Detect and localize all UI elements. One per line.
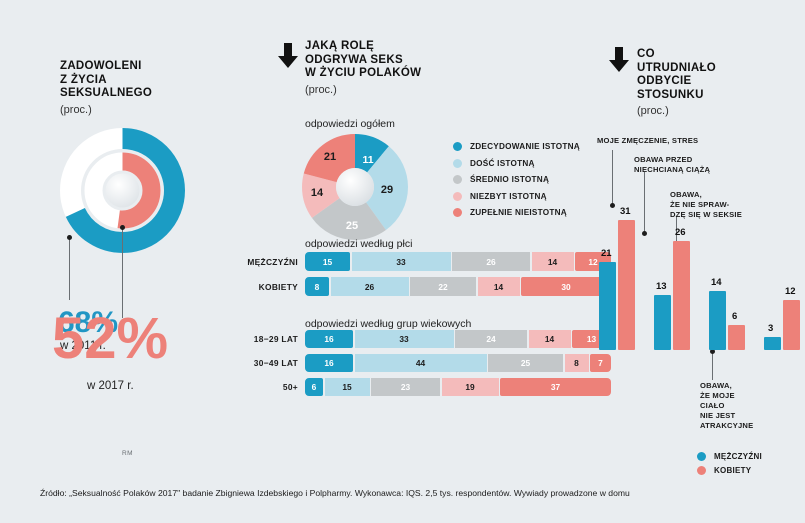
bar-value: 13 (656, 281, 667, 292)
bar-mezczyzni-21 (599, 262, 616, 350)
middle-title-line-3: W ŻYCIU POLAKÓW (305, 67, 485, 81)
annotation-line: CIAŁO (700, 401, 800, 411)
legend-label: DOŚĆ ISTOTNĄ (470, 159, 535, 168)
left-section-title: ZADOWOLENI Z ŻYCIA SEKSUALNEGO (proc.) (60, 60, 230, 117)
slice-label-14: 14 (311, 187, 324, 199)
left-title-unit: (proc.) (60, 104, 230, 118)
bar-value: 21 (601, 248, 612, 259)
row-label-18-29: 18−29 LAT (232, 334, 305, 344)
bar-kobiety-31 (618, 220, 635, 350)
row-label-kobiety: KOBIETY (232, 282, 305, 292)
down-arrow-icon (277, 43, 299, 69)
gender-legend: MĘŻCZYŹNI KOBIETY (697, 452, 762, 475)
segment-srednio: 24 (455, 330, 527, 348)
subtitle-age: odpowiedzi według grup wiekowych (305, 318, 471, 330)
row-label-mezczyzni: MĘŻCZYŹNI (232, 257, 305, 267)
annotation-line: OBAWA, (670, 190, 780, 200)
annotation-zmeczenie: MOJE ZMĘCZENIE, STRES (597, 136, 737, 146)
leader-line-2011 (69, 238, 70, 300)
stacked-track: 16 33 24 14 13 (305, 330, 611, 348)
bar-kobiety-12 (783, 300, 800, 350)
segment-niezbyt: 14 (529, 330, 571, 348)
segment-dosc: 33 (352, 252, 451, 271)
legend-label: NIEZBYT ISTOTNĄ (470, 192, 547, 201)
legend-dot-icon (453, 192, 462, 201)
table-row: MĘŻCZYŹNI 15 33 26 14 12 (232, 252, 611, 271)
left-title-line-3: SEKSUALNEGO (60, 87, 230, 101)
segment-dosc: 15 (325, 378, 370, 396)
stacked-track: 8 26 22 14 30 (305, 277, 611, 296)
table-row: 30−49 LAT 16 44 25 8 7 (232, 354, 611, 372)
overall-donut-svg: 11 29 25 14 21 (300, 132, 410, 242)
annotation-line: NIE JEST (700, 411, 800, 421)
legend-item-zdecydowanie: ZDECYDOWANIE ISTOTNĄ (453, 142, 580, 151)
middle-down-arrow-icon (277, 43, 299, 69)
stacked-track: 16 44 25 8 7 (305, 354, 611, 372)
bar-kobiety-26 (673, 241, 690, 350)
annotation-line: ATRAKCYJNE (700, 421, 800, 431)
right-title-unit: (proc.) (637, 105, 777, 119)
slice-label-21: 21 (324, 151, 336, 163)
segment-srednio: 26 (452, 252, 530, 271)
legend-dot-icon (453, 208, 462, 217)
segment-zdecydowanie: 8 (305, 277, 329, 296)
left-title-line-1: ZADOWOLENI (60, 60, 230, 74)
bar-value: 6 (732, 311, 737, 322)
annotation-leader-4 (712, 352, 713, 380)
segment-niezbyt: 14 (478, 277, 520, 296)
bar-mezczyzni-14 (709, 291, 726, 350)
bar-kobiety-6 (728, 325, 745, 350)
middle-title-unit: (proc.) (305, 84, 485, 98)
segment-niezbyt: 19 (442, 378, 499, 396)
stacked-track: 15 33 26 14 12 (305, 252, 611, 271)
legend-item-zupelnie: ZUPEŁNIE NIEISTOTNĄ (453, 208, 580, 217)
right-title-line-4: STOSUNKU (637, 89, 777, 103)
donut-core (106, 174, 140, 208)
annotation-line: OBAWA, (700, 381, 800, 391)
gender-bar-chart: MĘŻCZYŹNI 15 33 26 14 12 KOBIETY 8 26 22… (232, 252, 611, 302)
annotation-line: ŻE MOJE (700, 391, 800, 401)
subtitle-overall: odpowiedzi ogółem (305, 118, 395, 130)
middle-title-line-2: ODGRYWA SEKS (305, 54, 485, 68)
segment-zupelnie: 7 (590, 354, 611, 372)
segment-srednio: 23 (371, 378, 440, 396)
legend-item-niezbyt: NIEZBYT ISTOTNĄ (453, 192, 580, 201)
obstacles-column-chart: 21 31 13 26 14 6 3 12 (588, 200, 788, 350)
segment-srednio: 22 (410, 277, 476, 296)
segment-dosc: 44 (355, 354, 487, 372)
bar-value: 26 (675, 227, 686, 238)
legend-label: MĘŻCZYŹNI (714, 452, 762, 461)
annotation-line: NIECHCIANĄ CIĄŻĄ (634, 165, 754, 175)
legend-dot-icon (453, 159, 462, 168)
legend-label: ŚREDNIO ISTOTNĄ (470, 175, 549, 184)
legend-item-kobiety: KOBIETY (697, 466, 762, 475)
bar-value: 12 (785, 286, 796, 297)
table-row: 50+ 6 15 23 19 37 (232, 378, 611, 396)
segment-zdecydowanie: 15 (305, 252, 350, 271)
label-2017: w 2017 r. (87, 380, 134, 392)
legend-item-dosc: DOŚĆ ISTOTNĄ (453, 159, 580, 168)
annotation-leader-1 (612, 150, 613, 206)
leader-line-2017 (122, 228, 123, 318)
row-label-30-49: 30−49 LAT (232, 358, 305, 368)
right-title-line-1: CO (637, 48, 777, 62)
down-arrow-icon (608, 47, 630, 73)
segment-dosc: 33 (355, 330, 454, 348)
legend-label: ZUPEŁNIE NIEISTOTNĄ (470, 208, 567, 217)
overall-donut-core (336, 168, 374, 206)
author-credit: RM (122, 450, 133, 457)
source-note: Źródło: „Seksualność Polaków 2017" badan… (40, 488, 630, 498)
leader-dot-2017 (120, 225, 125, 230)
segment-niezbyt: 14 (532, 252, 574, 271)
slice-label-25: 25 (346, 220, 358, 232)
segment-zupelnie: 37 (500, 378, 611, 396)
table-row: 18−29 LAT 16 33 24 14 13 (232, 330, 611, 348)
right-title-line-2: UTRUDNIAŁO (637, 62, 777, 76)
segment-zdecydowanie: 16 (305, 354, 353, 372)
row-label-50plus: 50+ (232, 382, 305, 392)
stacked-track: 6 15 23 19 37 (305, 378, 611, 396)
legend-dot-icon (697, 466, 706, 475)
segment-zdecydowanie: 6 (305, 378, 323, 396)
annotation-line: OBAWA PRZED (634, 155, 754, 165)
segment-zdecydowanie: 16 (305, 330, 353, 348)
bar-value: 3 (768, 323, 773, 334)
bar-mezczyzni-3 (764, 337, 781, 350)
legend-label: ZDECYDOWANIE ISTOTNĄ (470, 142, 580, 151)
role-of-sex-legend: ZDECYDOWANIE ISTOTNĄ DOŚĆ ISTOTNĄ ŚREDNI… (453, 142, 580, 225)
legend-dot-icon (453, 142, 462, 151)
left-title-line-2: Z ŻYCIA (60, 74, 230, 88)
slice-label-11: 11 (362, 154, 373, 166)
legend-item-mezczyzni: MĘŻCZYŹNI (697, 452, 762, 461)
legend-item-srednio: ŚREDNIO ISTOTNĄ (453, 175, 580, 184)
right-down-arrow-icon (608, 47, 630, 73)
value-2017: 52% (52, 310, 168, 368)
right-title-line-3: ODBYCIE (637, 75, 777, 89)
bar-value: 31 (620, 206, 631, 217)
legend-label: KOBIETY (714, 466, 751, 475)
subtitle-gender: odpowiedzi według płci (305, 238, 412, 250)
segment-srednio: 25 (488, 354, 563, 372)
age-bar-chart: 18−29 LAT 16 33 24 14 13 30−49 LAT 16 44… (232, 330, 611, 402)
leader-dot-2011 (67, 235, 72, 240)
annotation-line: MOJE ZMĘCZENIE, STRES (597, 136, 737, 146)
infographic-canvas: ZADOWOLENI Z ŻYCIA SEKSUALNEGO (proc.) (0, 0, 805, 523)
legend-dot-icon (453, 175, 462, 184)
slice-label-29: 29 (381, 184, 393, 196)
segment-niezbyt: 8 (565, 354, 589, 372)
middle-title-line-1: JAKĄ ROLĘ (305, 40, 485, 54)
annotation-cialo: OBAWA, ŻE MOJE CIAŁO NIE JEST ATRAKCYJNE (700, 381, 800, 431)
middle-section-title: JAKĄ ROLĘ ODGRYWA SEKS W ŻYCIU POLAKÓW (… (305, 40, 485, 97)
right-section-title: CO UTRUDNIAŁO ODBYCIE STOSUNKU (proc.) (637, 48, 777, 119)
legend-dot-icon (697, 452, 706, 461)
table-row: KOBIETY 8 26 22 14 30 (232, 277, 611, 296)
bar-value: 14 (711, 277, 722, 288)
role-of-sex-overall-donut: 11 29 25 14 21 (300, 132, 410, 242)
segment-dosc: 26 (331, 277, 409, 296)
annotation-ciaza: OBAWA PRZED NIECHCIANĄ CIĄŻĄ (634, 155, 754, 175)
bar-mezczyzni-13 (654, 295, 671, 350)
